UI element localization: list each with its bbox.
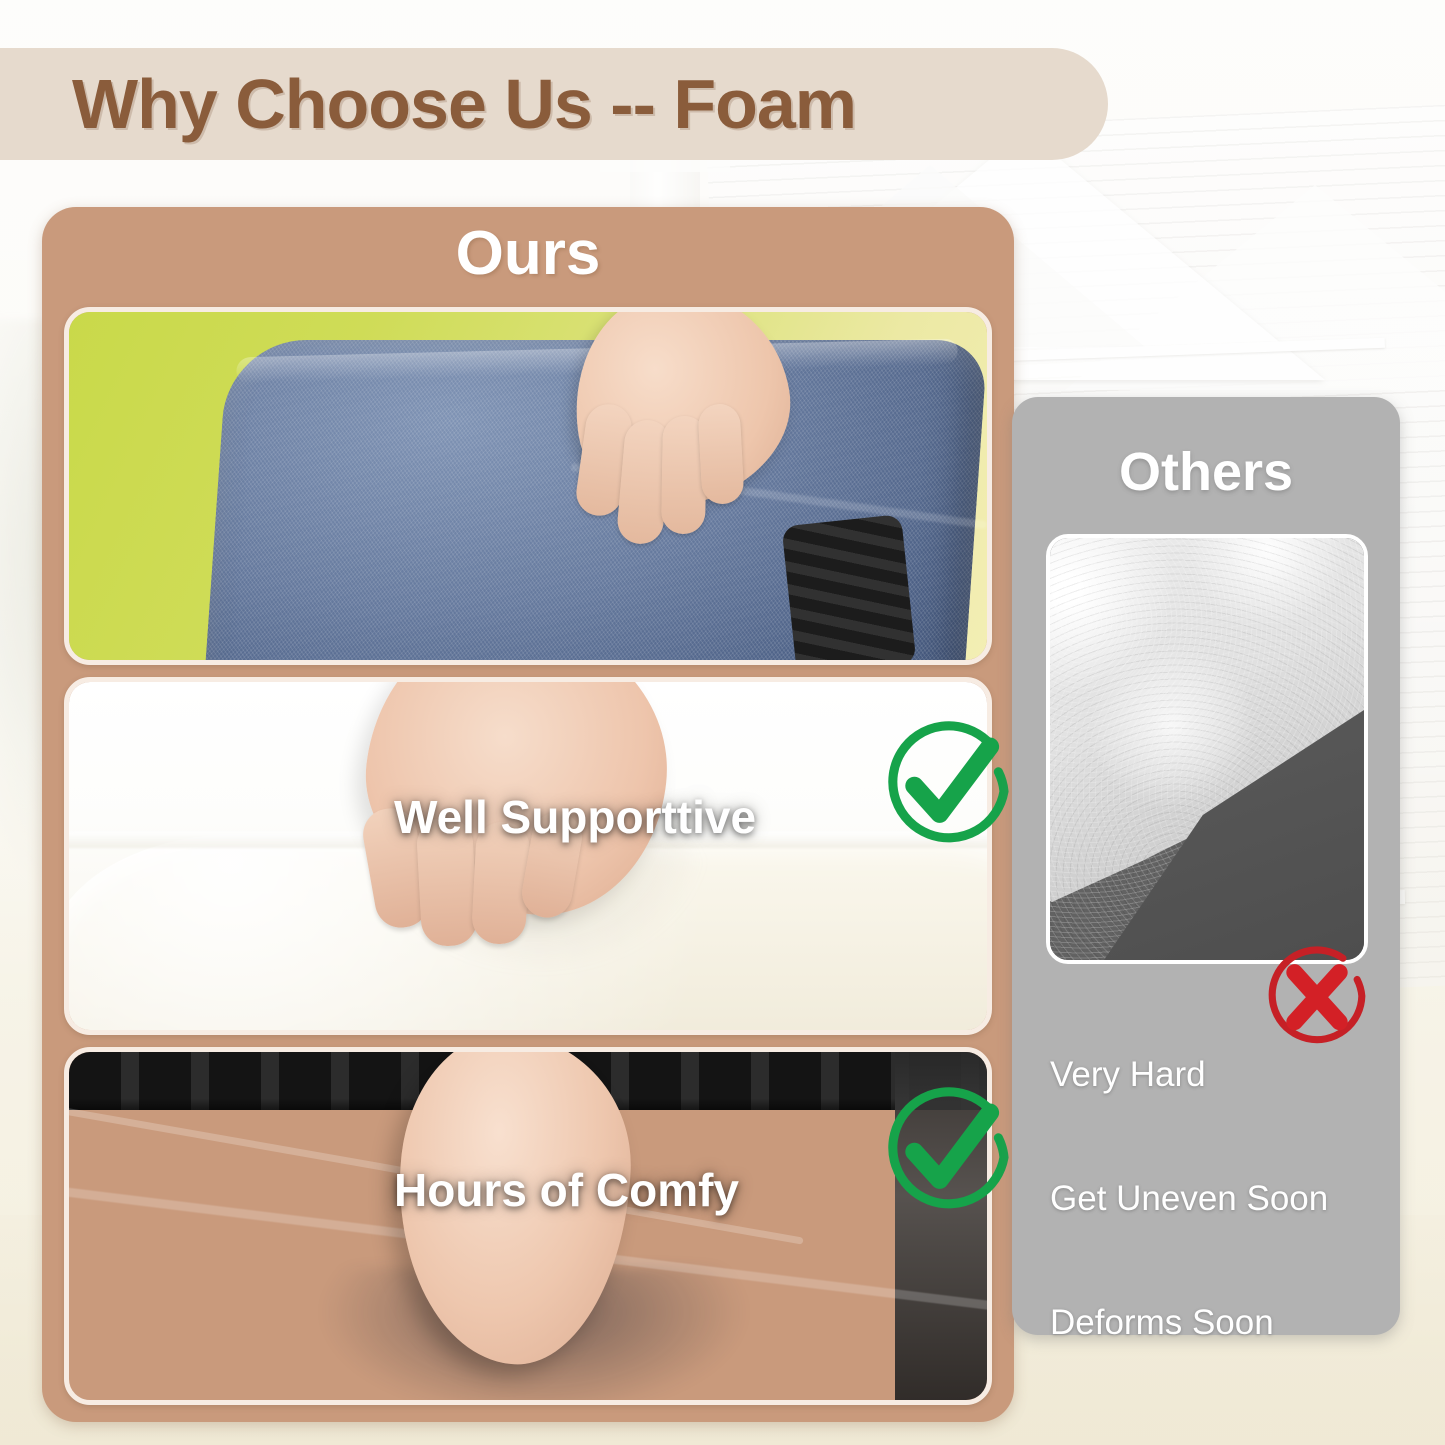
photo-foam-press (69, 682, 987, 1030)
others-drawback-2: Get Uneven Soon (1050, 1181, 1328, 1216)
others-heading: Others (1012, 445, 1400, 499)
red-x-icon (1258, 937, 1376, 1055)
page-title: Why Choose Us -- Foam (72, 69, 856, 139)
grayscale-foam-image (1050, 538, 1364, 960)
infographic-canvas: Why Choose Us -- Foam Ours (0, 0, 1445, 1445)
others-drawback-1: Very Hard (1050, 1057, 1206, 1092)
others-foam-photo (1046, 534, 1368, 964)
photo-cushion-knee (69, 312, 987, 660)
ours-feature-caption-2: Hours of Comfy (394, 1167, 739, 1213)
ours-heading: Ours (42, 223, 1014, 285)
others-drawback-3: Deforms Soon (1050, 1305, 1274, 1340)
green-check-icon (878, 713, 1018, 853)
ours-feature-card-3 (64, 1047, 992, 1405)
ours-feature-card-2 (64, 677, 992, 1035)
wicker-frame (781, 514, 916, 665)
finger (697, 403, 744, 505)
others-panel: Others Very Hard Get Uneven Soon Deforms… (1012, 397, 1400, 1335)
photo-cushion-foot (69, 1052, 987, 1400)
title-banner: Why Choose Us -- Foam (0, 48, 1108, 160)
ours-feature-caption-1: Well Supporttive (394, 794, 756, 840)
green-check-icon (878, 1079, 1018, 1219)
ours-feature-card-1 (64, 307, 992, 665)
ours-panel: Ours (42, 207, 1014, 1422)
